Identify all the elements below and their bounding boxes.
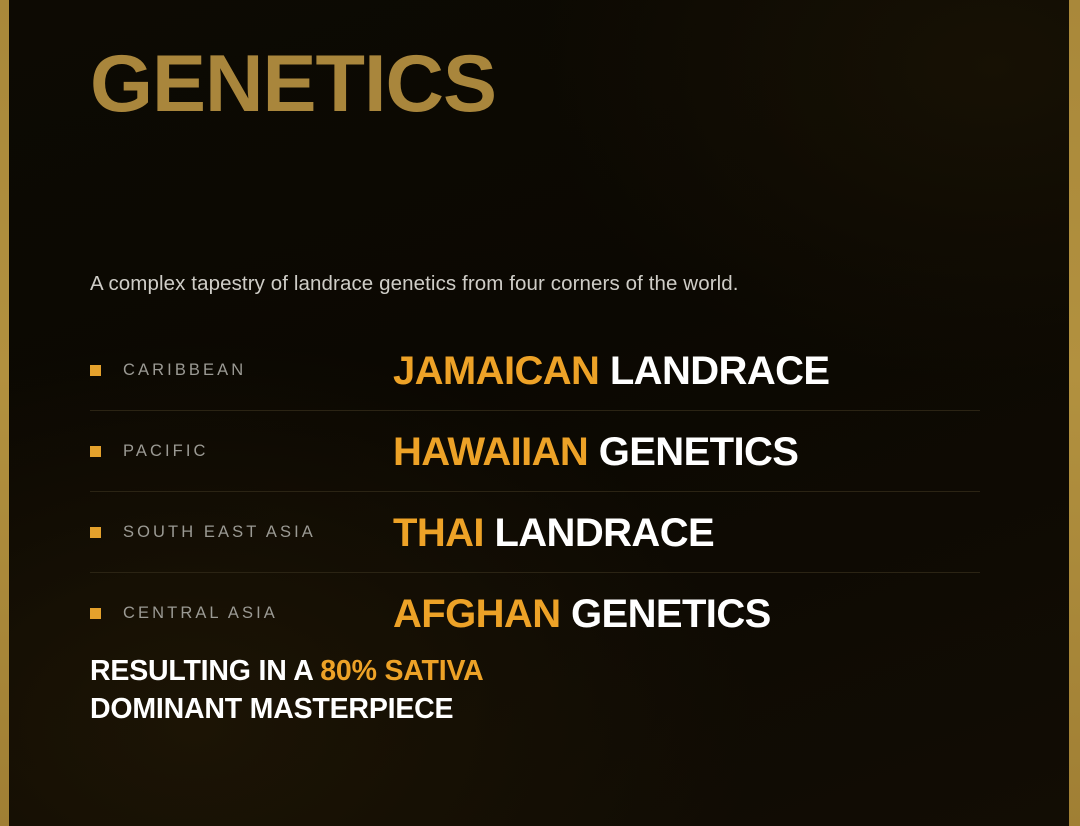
strain-kind: GENETICS xyxy=(571,592,771,636)
strain-name: HAWAIIAN GENETICS xyxy=(393,432,798,472)
list-item: PACIFIC HAWAIIAN GENETICS xyxy=(90,411,990,492)
square-bullet-icon xyxy=(90,527,101,538)
strain-kind: LANDRACE xyxy=(610,349,830,393)
right-accent-bar xyxy=(1069,0,1080,826)
list-item: CENTRAL ASIA AFGHAN GENETICS xyxy=(90,573,990,654)
square-bullet-icon xyxy=(90,608,101,619)
region-label: SOUTH EAST ASIA xyxy=(123,523,393,542)
region-label: CENTRAL ASIA xyxy=(123,604,393,623)
region-label: CARIBBEAN xyxy=(123,361,393,380)
square-bullet-icon xyxy=(90,365,101,376)
slide-subtitle: A complex tapestry of landrace genetics … xyxy=(90,272,739,296)
square-bullet-icon xyxy=(90,446,101,457)
summary-tail: DOMINANT MASTERPIECE xyxy=(90,693,453,725)
strain-origin: HAWAIIAN xyxy=(393,430,588,474)
slide-content: GENETICS A complex tapestry of landrace … xyxy=(90,0,1000,826)
left-accent-bar xyxy=(0,0,9,826)
strain-origin: AFGHAN xyxy=(393,592,561,636)
list-item: CARIBBEAN JAMAICAN LANDRACE xyxy=(90,330,990,411)
genetics-slide: GENETICS A complex tapestry of landrace … xyxy=(0,0,1080,826)
summary-lead: RESULTING IN A xyxy=(90,655,320,687)
strain-name: THAI LANDRACE xyxy=(393,513,714,553)
page-title: GENETICS xyxy=(90,44,496,125)
list-item: SOUTH EAST ASIA THAI LANDRACE xyxy=(90,492,990,573)
strain-kind: LANDRACE xyxy=(494,511,714,555)
strain-name: AFGHAN GENETICS xyxy=(393,594,771,634)
strain-name: JAMAICAN LANDRACE xyxy=(393,351,829,391)
summary-statement: RESULTING IN A 80% SATIVA DOMINANT MASTE… xyxy=(90,652,484,728)
summary-highlight: 80% SATIVA xyxy=(320,655,483,687)
region-label: PACIFIC xyxy=(123,442,393,461)
strain-kind: GENETICS xyxy=(599,430,799,474)
strain-origin: THAI xyxy=(393,511,484,555)
genetics-list: CARIBBEAN JAMAICAN LANDRACE PACIFIC HAWA… xyxy=(90,330,990,654)
strain-origin: JAMAICAN xyxy=(393,349,599,393)
